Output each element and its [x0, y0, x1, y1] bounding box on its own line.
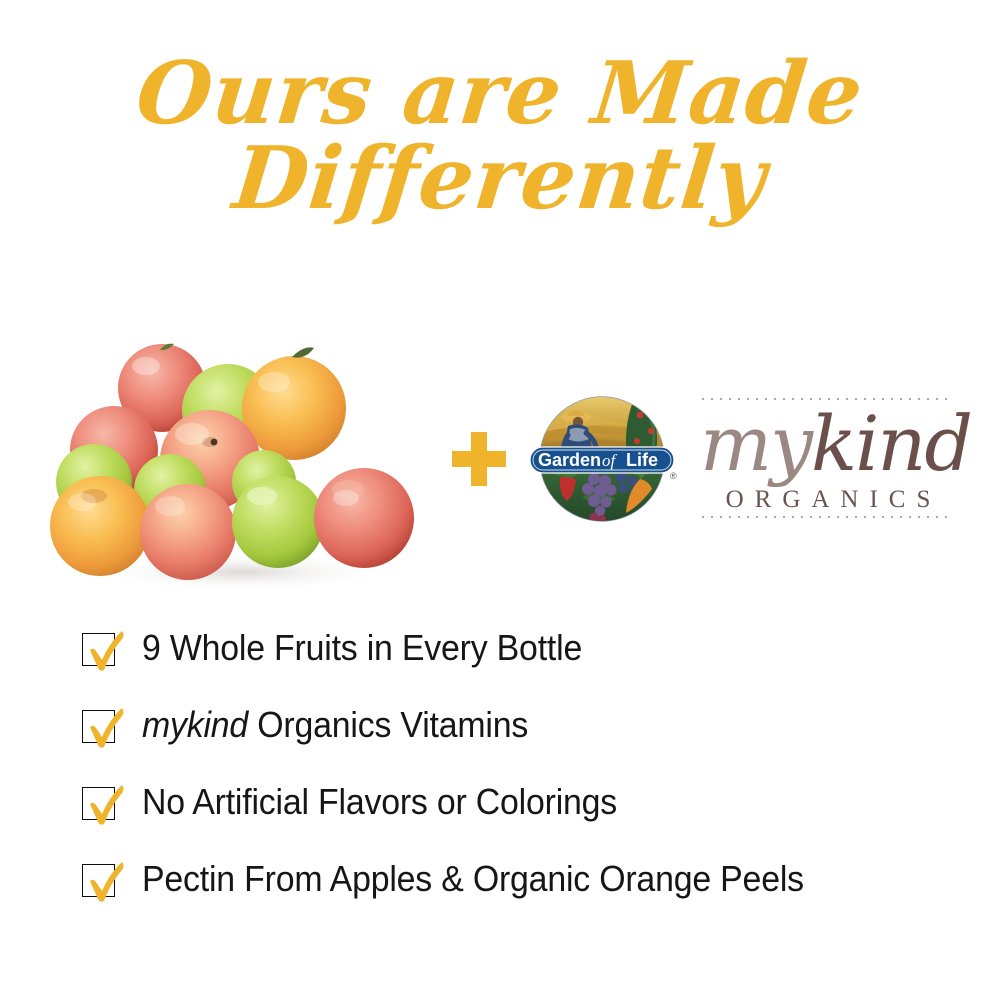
mykind-kind: kind	[811, 399, 971, 488]
gol-word-of: of	[602, 451, 618, 470]
list-item-label: 9 Whole Fruits in Every Bottle	[142, 626, 582, 670]
page-title: Ours are Made Differently	[0, 52, 1000, 221]
list-item-label: No Artificial Flavors or Colorings	[142, 780, 617, 824]
registered-trademark-icon: ®	[670, 471, 677, 481]
fruit-pile-photo	[42, 300, 442, 600]
mykind-wordmark: mykind	[700, 400, 958, 488]
list-item-label: Pectin From Apples & Organic Orange Peel…	[142, 857, 804, 901]
mykind-organics-logo: mykind ORGANICS	[700, 392, 958, 522]
list-item: No Artificial Flavors or Colorings	[82, 780, 982, 857]
garden-of-life-banner: Garden of Life	[530, 447, 674, 473]
mykind-my: my	[700, 399, 811, 488]
garden-of-life-logo: Garden of Life ®	[522, 393, 694, 533]
headline-line-1: Ours are Made	[0, 52, 1000, 135]
plus-icon	[452, 432, 506, 486]
checkbox-checked-icon[interactable]	[82, 782, 118, 822]
list-item-label-italic: mykind	[142, 704, 248, 745]
organics-subtitle: ORGANICS	[702, 486, 954, 514]
list-item: 9 Whole Fruits in Every Bottle	[82, 626, 982, 703]
gol-word-life: Life	[626, 450, 658, 470]
list-item: Pectin From Apples & Organic Orange Peel…	[82, 857, 982, 934]
checkbox-checked-icon[interactable]	[82, 859, 118, 899]
list-item-label: mykind Organics Vitamins	[142, 703, 528, 747]
list-item: mykind Organics Vitamins	[82, 703, 982, 780]
benefits-checklist: 9 Whole Fruits in Every Bottle mykind Or…	[82, 626, 982, 934]
headline-line-2: Differently	[0, 137, 1000, 220]
gol-word-garden: Garden	[538, 450, 601, 470]
checkbox-checked-icon[interactable]	[82, 628, 118, 668]
checkbox-checked-icon[interactable]	[82, 705, 118, 745]
promo-poster: Ours are Made Differently	[0, 0, 1000, 1000]
dotted-rule-bottom	[702, 516, 954, 518]
